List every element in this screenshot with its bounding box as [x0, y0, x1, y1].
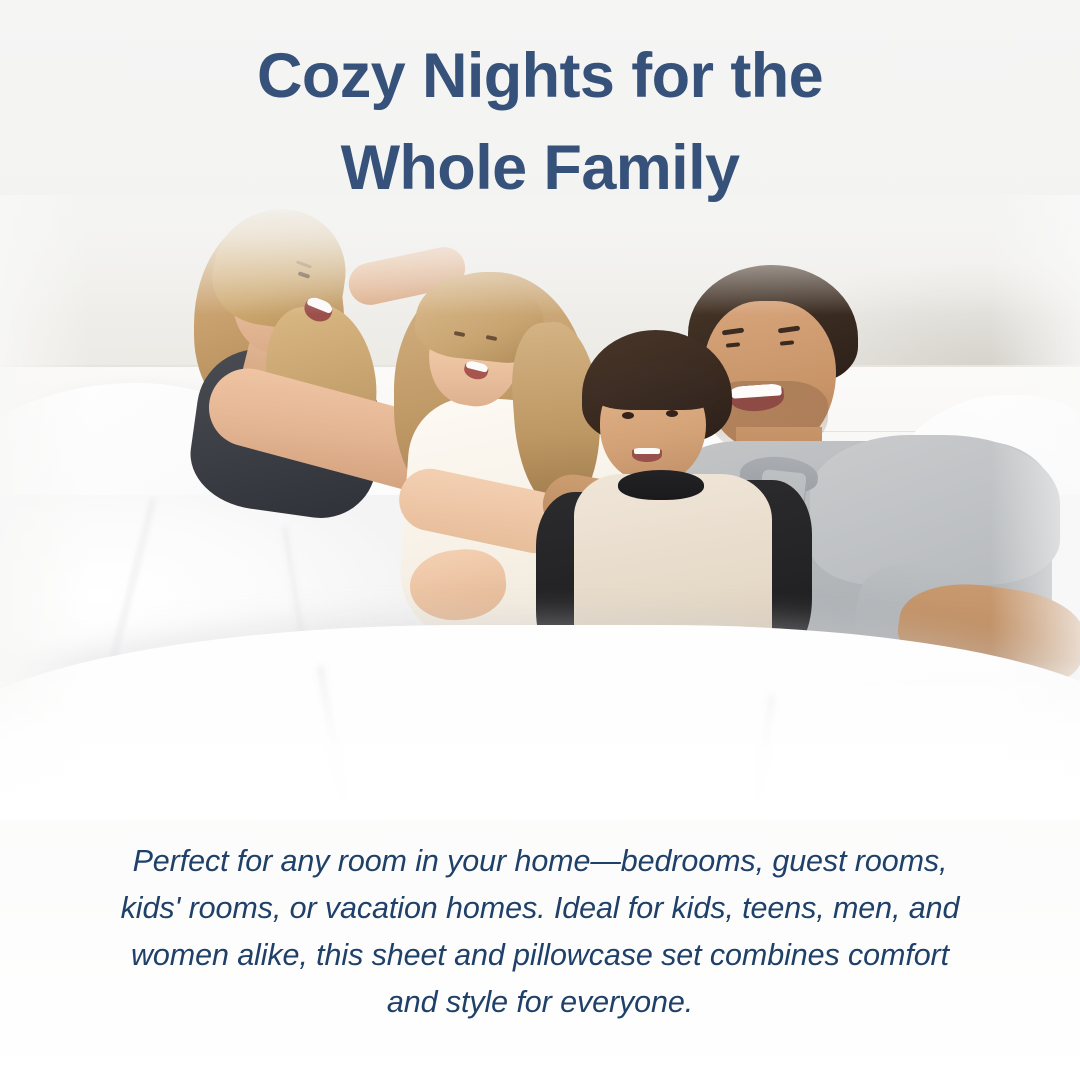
son-eye [622, 412, 634, 419]
body-copy-block: Perfect for any room in your home—bedroo… [0, 838, 1080, 1026]
body-line-3: women alike, this sheet and pillowcase s… [131, 938, 949, 972]
person-son [570, 330, 820, 670]
headline-line-1: Cozy Nights for the [0, 30, 1080, 122]
photo-canvas [0, 195, 1080, 820]
body-line-2: kids' rooms, or vacation homes. Ideal fo… [121, 891, 960, 925]
body-line-4: and style for everyone. [387, 985, 693, 1019]
product-lifestyle-poster: Cozy Nights for the Whole Family [0, 0, 1080, 1080]
headline-block: Cozy Nights for the Whole Family [0, 30, 1080, 214]
son-mouth [632, 448, 662, 462]
page-title: Cozy Nights for the Whole Family [0, 30, 1080, 214]
photo-fade-bottom [0, 660, 1080, 820]
body-copy: Perfect for any room in your home—bedroo… [100, 838, 980, 1026]
son-collar [618, 470, 704, 500]
body-line-1: Perfect for any room in your home—bedroo… [133, 844, 948, 878]
son-teeth [634, 448, 660, 454]
headline-line-2: Whole Family [0, 122, 1080, 214]
son-eye [666, 410, 678, 417]
family-bed-photo [0, 195, 1080, 820]
